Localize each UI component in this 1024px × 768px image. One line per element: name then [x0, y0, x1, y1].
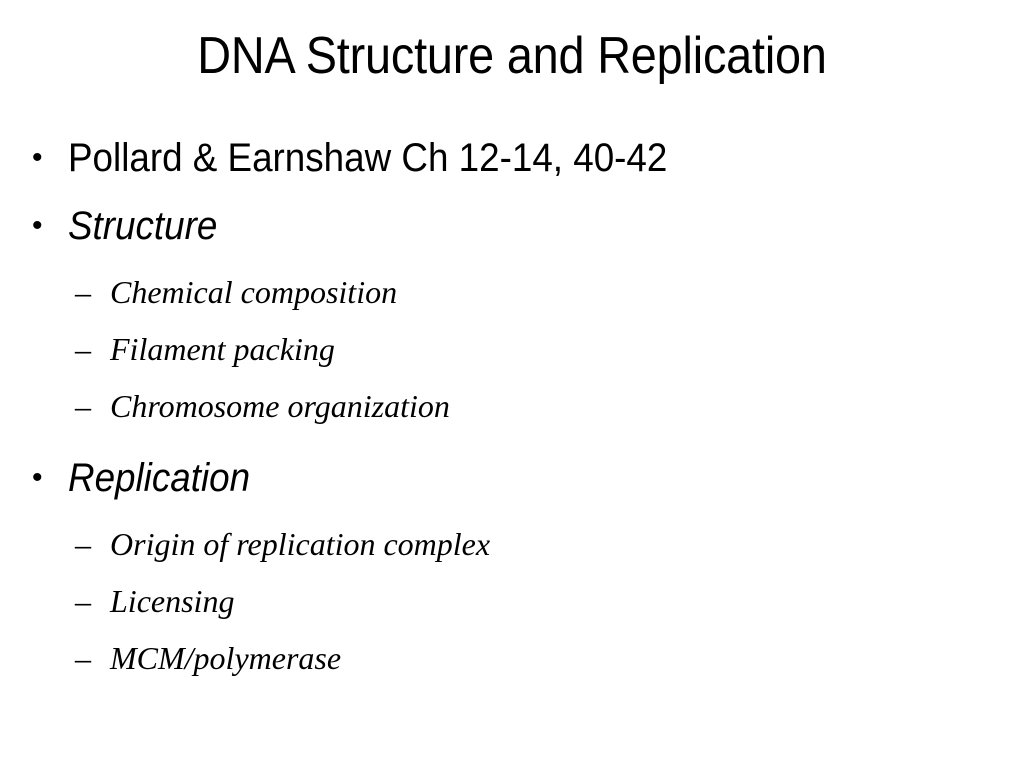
list-item: •Pollard & Earnshaw Ch 12-14, 40-42 — [0, 130, 1024, 198]
bullet-dash-icon: – — [75, 325, 110, 373]
list-item: •Replication — [0, 450, 1024, 518]
list-item-label: Chemical composition — [110, 268, 397, 316]
list-item-label: Pollard & Earnshaw Ch 12-14, 40-42 — [68, 130, 667, 186]
bullet-dash-icon: – — [75, 577, 110, 625]
slide-canvas: DNA Structure and Replication •Pollard &… — [0, 0, 1024, 768]
list-item: –Filament packing — [0, 325, 1024, 382]
list-item-label: Replication — [68, 450, 250, 506]
bullet-dash-icon: – — [75, 382, 110, 430]
list-item-label: MCM/polymerase — [110, 634, 341, 682]
list-item-label: Filament packing — [110, 325, 335, 373]
list-item-label: Chromosome organization — [110, 382, 450, 430]
list-item: –Chromosome organization — [0, 382, 1024, 439]
bullet-dot-icon: • — [32, 450, 68, 506]
bullet-dash-icon: – — [75, 268, 110, 316]
list-item-label: Licensing — [110, 577, 234, 625]
bullet-dash-icon: – — [75, 634, 110, 682]
list-item: –Origin of replication complex — [0, 520, 1024, 577]
list-item-label: Origin of replication complex — [110, 520, 490, 568]
list-item: –MCM/polymerase — [0, 634, 1024, 691]
page-title: DNA Structure and Replication — [51, 26, 973, 86]
bullet-dot-icon: • — [32, 198, 68, 254]
list-item-label: Structure — [68, 198, 217, 254]
bullet-dot-icon: • — [32, 130, 68, 186]
bullet-dash-icon: – — [75, 520, 110, 568]
list-item: •Structure — [0, 198, 1024, 266]
list-item: –Licensing — [0, 577, 1024, 634]
list-item: –Chemical composition — [0, 268, 1024, 325]
slide-body-list: •Pollard & Earnshaw Ch 12-14, 40-42 •Str… — [0, 130, 1024, 691]
